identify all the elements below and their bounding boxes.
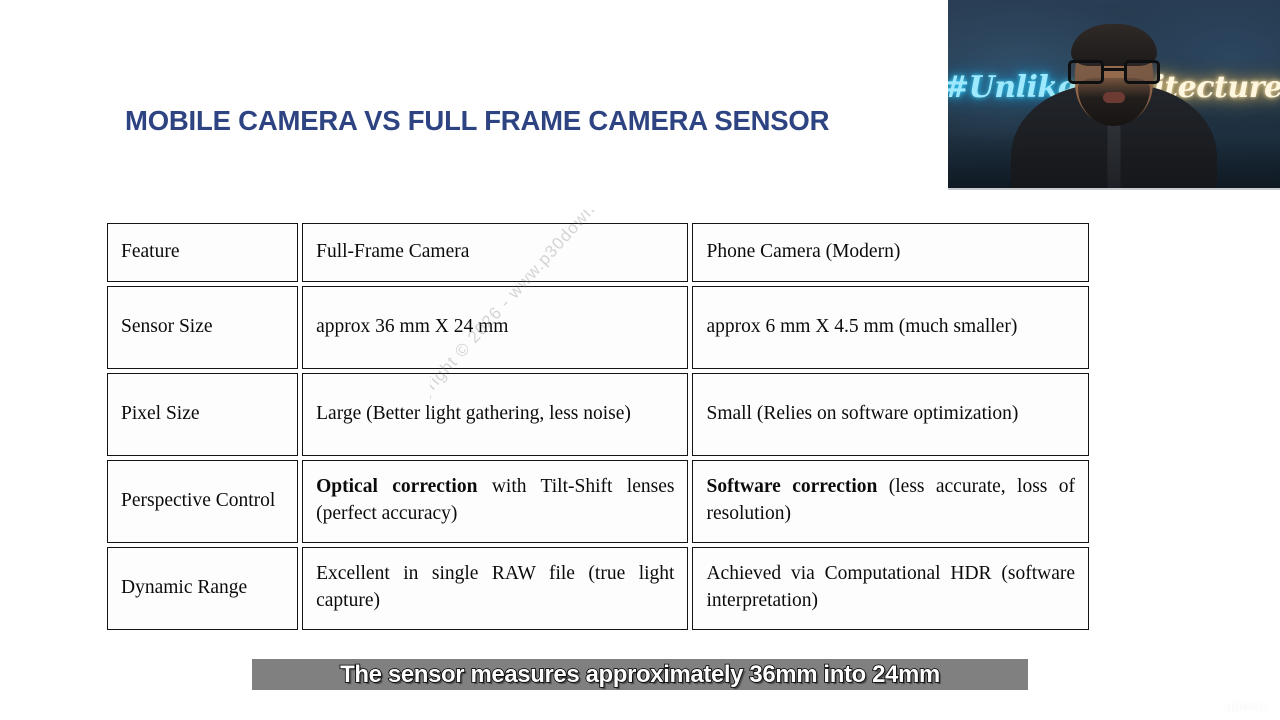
cell-full-frame-perspective-control: Optical correction with Tilt-Shift lense… bbox=[302, 460, 688, 543]
caption-bar: The sensor measures approximately 36mm i… bbox=[252, 659, 1028, 690]
row-label-pixel-size: Pixel Size bbox=[107, 373, 298, 456]
cell-full-frame-dynamic-range: Excellent in single RAW file (true light… bbox=[302, 547, 688, 630]
cell-emphasis: Optical correction bbox=[316, 476, 477, 497]
row-label-perspective-control: Perspective Control bbox=[107, 460, 298, 543]
table-header-feature: Feature bbox=[107, 223, 298, 282]
cell-phone-perspective-control: Software correction (less accurate, loss… bbox=[692, 460, 1089, 543]
cell-phone-dynamic-range: Achieved via Computational HDR (software… bbox=[692, 547, 1089, 630]
table-row: Perspective Control Optical correction w… bbox=[107, 460, 1089, 543]
row-label-sensor-size: Sensor Size bbox=[107, 286, 298, 369]
table-header-row: Feature Full-Frame Camera Phone Camera (… bbox=[107, 223, 1089, 282]
cell-emphasis: Software correction bbox=[706, 476, 877, 497]
row-label-dynamic-range: Dynamic Range bbox=[107, 547, 298, 630]
caption-text: The sensor measures approximately 36mm i… bbox=[340, 661, 940, 689]
table-header-full-frame: Full-Frame Camera bbox=[302, 223, 688, 282]
cell-phone-pixel-size: Small (Relies on software optimization) bbox=[692, 373, 1089, 456]
udemy-logo: udemy bbox=[1224, 698, 1268, 714]
cell-full-frame-pixel-size: Large (Better light gathering, less nois… bbox=[302, 373, 688, 456]
page-title: MOBILE CAMERA VS FULL FRAME CAMERA SENSO… bbox=[125, 105, 829, 137]
glasses-lens-right bbox=[1124, 60, 1160, 84]
comparison-table: Feature Full-Frame Camera Phone Camera (… bbox=[103, 219, 1093, 634]
glasses-bridge bbox=[1104, 68, 1124, 71]
table-row: Pixel Size Large (Better light gathering… bbox=[107, 373, 1089, 456]
presenter-mouth bbox=[1103, 92, 1125, 103]
glasses-lens-left bbox=[1068, 60, 1104, 84]
table-row: Sensor Size approx 36 mm X 24 mm approx … bbox=[107, 286, 1089, 369]
glasses-icon bbox=[1068, 60, 1160, 84]
cell-phone-sensor-size: approx 6 mm X 4.5 mm (much smaller) bbox=[692, 286, 1089, 369]
presenter-video-overlay: #UnlikeArchitecture bbox=[948, 0, 1280, 190]
table-row: Dynamic Range Excellent in single RAW fi… bbox=[107, 547, 1089, 630]
cell-full-frame-sensor-size: approx 36 mm X 24 mm bbox=[302, 286, 688, 369]
table-header-phone: Phone Camera (Modern) bbox=[692, 223, 1089, 282]
